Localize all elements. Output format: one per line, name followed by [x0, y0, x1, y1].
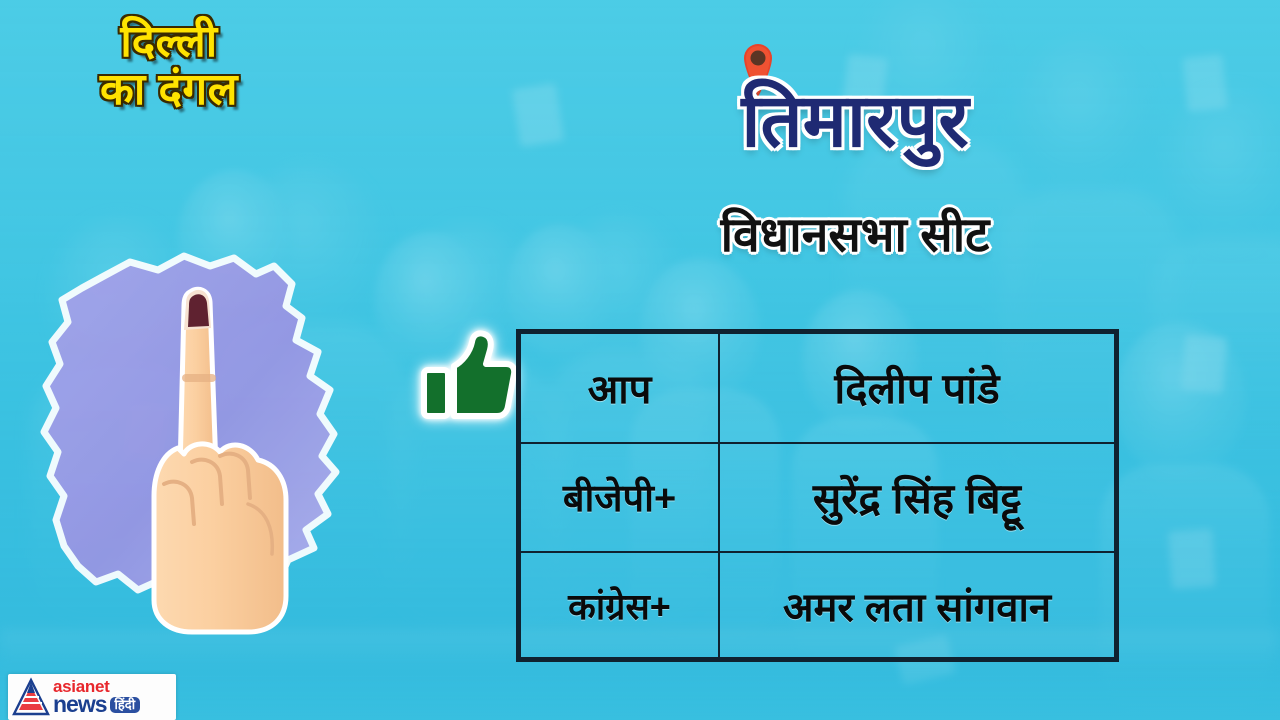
logo-language-badge: हिंदी [110, 697, 141, 713]
show-title: दिल्ली का दंगल [44, 18, 294, 113]
asianet-logo-wordmark: asianet news हिंदी [53, 679, 172, 716]
page-subtitle: विधानसभा सीट [640, 212, 1070, 260]
thumbs-up-icon [420, 330, 516, 420]
party-cell: बीजेपी+ [520, 443, 719, 553]
candidate-cell: अमर लता सांगवान [719, 552, 1115, 658]
party-cell: कांग्रेस+ [520, 552, 719, 658]
table-row: कांग्रेस+ अमर लता सांगवान [520, 552, 1115, 658]
page-title: तिमारपुर [640, 84, 1070, 158]
graphic-canvas: दिल्ली का दंगल तिमारपुर विधानसभा सीट [0, 0, 1280, 720]
candidate-cell: दिलीप पांडे [719, 333, 1115, 443]
asianet-logo-mark [12, 677, 50, 717]
candidate-cell: सुरेंद्र सिंह बिट्टू [719, 443, 1115, 553]
asianet-news-logo: asianet news हिंदी [8, 674, 176, 720]
logo-text-news: news [53, 694, 107, 715]
table-row: आप दिलीप पांडे [520, 333, 1115, 443]
show-title-line-2: का दंगल [44, 66, 294, 114]
delhi-map-illustration [34, 248, 374, 638]
party-cell: आप [520, 333, 719, 443]
table-row: बीजेपी+ सुरेंद्र सिंह बिट्टू [520, 443, 1115, 553]
candidates-table: आप दिलीप पांडे बीजेपी+ सुरेंद्र सिंह बिट… [516, 329, 1119, 662]
show-title-line-1: दिल्ली [120, 17, 217, 66]
